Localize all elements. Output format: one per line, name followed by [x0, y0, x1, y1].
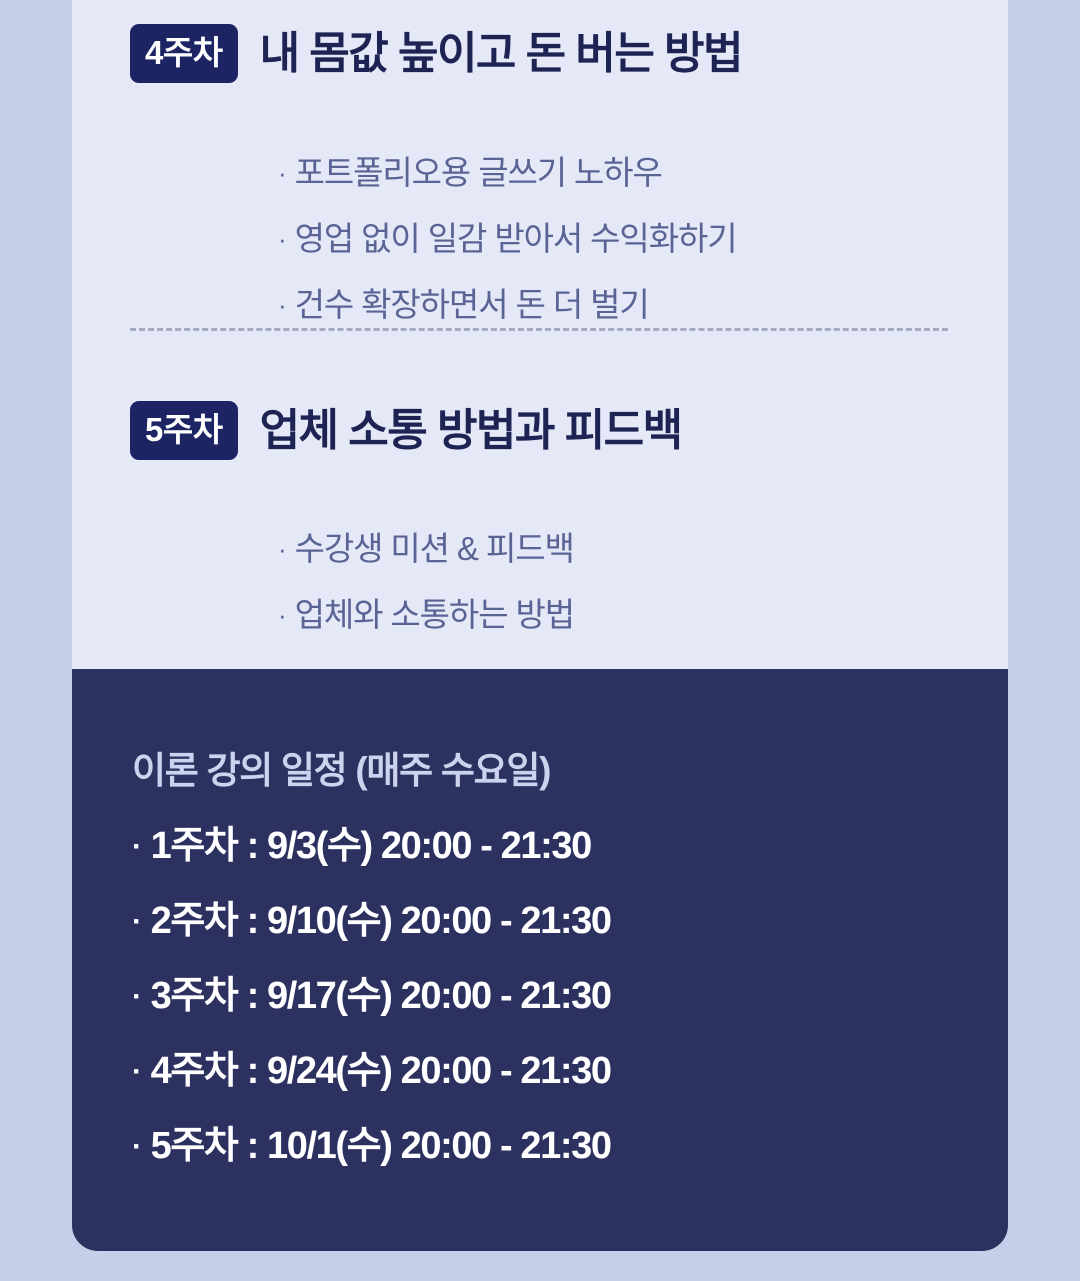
bullet-dot-icon: ·: [132, 907, 141, 937]
week-4-point-1-label: 포트폴리오용 글쓰기 노하우: [295, 156, 662, 189]
section-divider: [130, 328, 948, 331]
week-4-title: 내 몸값 높이고 돈 버는 방법: [260, 29, 742, 78]
schedule-row-label: 2주차 : 9/10(수) 20:00 - 21:30: [151, 902, 611, 940]
schedule-row: · 4주차 : 9/24(수) 20:00 - 21:30: [132, 1052, 1008, 1090]
bullet-dot-icon: ·: [278, 292, 286, 318]
week-4-badge: 4주차: [130, 24, 238, 83]
week-4-point-2-label: 영업 없이 일감 받아서 수익화하기: [295, 222, 737, 255]
week-5-point-1: · 수강생 미션 & 피드백: [278, 532, 1008, 565]
week-block-4: 4주차 내 몸값 높이고 돈 버는 방법 · 포트폴리오용 글쓰기 노하우 · …: [72, 0, 1008, 321]
schedule-row: · 3주차 : 9/17(수) 20:00 - 21:30: [132, 977, 1008, 1015]
week-5-point-1-label: 수강생 미션 & 피드백: [295, 532, 574, 565]
week-5-point-2-label: 업체와 소통하는 방법: [295, 598, 574, 631]
schedule-list: · 1주차 : 9/3(수) 20:00 - 21:30 · 2주차 : 9/1…: [132, 827, 1008, 1165]
week-4-point-3: · 건수 확장하면서 돈 더 벌기: [278, 288, 1008, 321]
week-4-point-list: · 포트폴리오용 글쓰기 노하우 · 영업 없이 일감 받아서 수익화하기 · …: [130, 156, 1008, 321]
week-5-point-2: · 업체와 소통하는 방법: [278, 598, 1008, 631]
bullet-dot-icon: ·: [278, 536, 286, 562]
week-block-5: 5주차 업체 소통 방법과 피드백 · 수강생 미션 & 피드백 · 업체와 소…: [72, 369, 1008, 630]
schedule-row: · 5주차 : 10/1(수) 20:00 - 21:30: [132, 1127, 1008, 1165]
schedule-row-label: 5주차 : 10/1(수) 20:00 - 21:30: [151, 1127, 611, 1165]
bullet-dot-icon: ·: [278, 602, 286, 628]
bullet-dot-icon: ·: [278, 160, 286, 186]
schedule-row: · 1주차 : 9/3(수) 20:00 - 21:30: [132, 827, 1008, 865]
schedule-row-label: 1주차 : 9/3(수) 20:00 - 21:30: [151, 827, 591, 865]
week-4-point-2: · 영업 없이 일감 받아서 수익화하기: [278, 222, 1008, 255]
bullet-dot-icon: ·: [132, 832, 141, 862]
schedule-row-label: 4주차 : 9/24(수) 20:00 - 21:30: [151, 1052, 611, 1090]
week-5-title: 업체 소통 방법과 피드백: [260, 406, 682, 455]
bullet-dot-icon: ·: [278, 226, 286, 252]
bullet-dot-icon: ·: [132, 1132, 141, 1162]
week-5-header: 5주차 업체 소통 방법과 피드백: [130, 369, 1008, 491]
bullet-dot-icon: ·: [132, 1057, 141, 1087]
week-4-header: 4주차 내 몸값 높이고 돈 버는 방법: [130, 0, 1008, 114]
schedule-row-label: 3주차 : 9/17(수) 20:00 - 21:30: [151, 977, 611, 1015]
week-5-point-list: · 수강생 미션 & 피드백 · 업체와 소통하는 방법: [130, 532, 1008, 631]
week-4-point-3-label: 건수 확장하면서 돈 더 벌기: [295, 288, 649, 321]
schedule-panel: 이론 강의 일정 (매주 수요일) · 1주차 : 9/3(수) 20:00 -…: [72, 669, 1008, 1251]
curriculum-card: 4주차 내 몸값 높이고 돈 버는 방법 · 포트폴리오용 글쓰기 노하우 · …: [72, 0, 1008, 1251]
week-4-point-1: · 포트폴리오용 글쓰기 노하우: [278, 156, 1008, 189]
curriculum-section: 4주차 내 몸값 높이고 돈 버는 방법 · 포트폴리오용 글쓰기 노하우 · …: [72, 0, 1008, 669]
bullet-dot-icon: ·: [132, 982, 141, 1012]
schedule-title: 이론 강의 일정 (매주 수요일): [132, 752, 1008, 789]
week-5-badge: 5주차: [130, 401, 238, 460]
schedule-row: · 2주차 : 9/10(수) 20:00 - 21:30: [132, 902, 1008, 940]
